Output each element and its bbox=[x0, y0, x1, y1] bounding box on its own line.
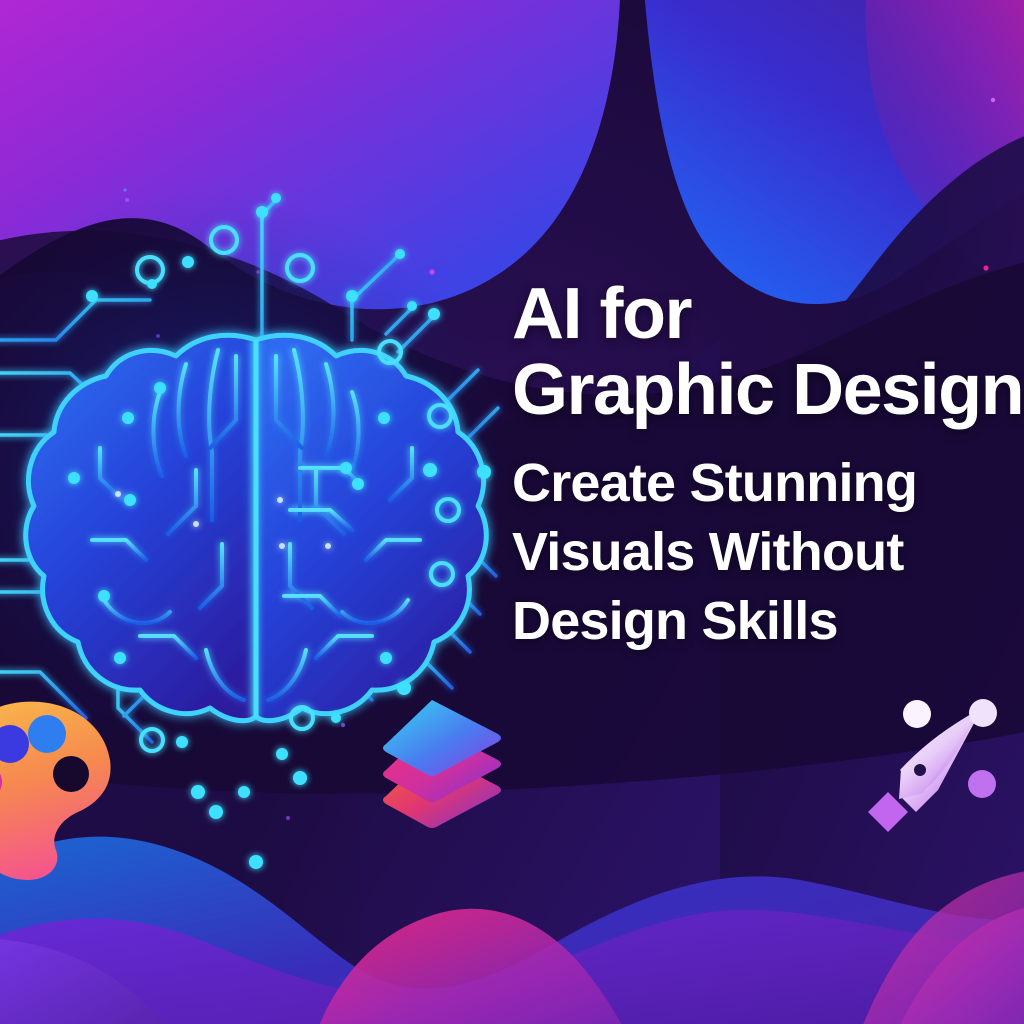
pen-tool-bezier-icon bbox=[868, 699, 997, 832]
palette-thumb-hole bbox=[53, 756, 89, 792]
pen-anchor-point bbox=[969, 699, 997, 727]
pen-anchor-point bbox=[903, 700, 931, 728]
paint-palette-icon bbox=[0, 702, 111, 880]
layers-stack-icon bbox=[383, 700, 501, 828]
feature-icons-group bbox=[0, 0, 1024, 1024]
pen-anchor-point bbox=[968, 770, 996, 798]
pen-nib-hole bbox=[914, 764, 926, 776]
palette-paint-dot bbox=[28, 715, 66, 753]
banner-canvas: AI for Graphic Design Create Stunning Vi… bbox=[0, 0, 1024, 1024]
